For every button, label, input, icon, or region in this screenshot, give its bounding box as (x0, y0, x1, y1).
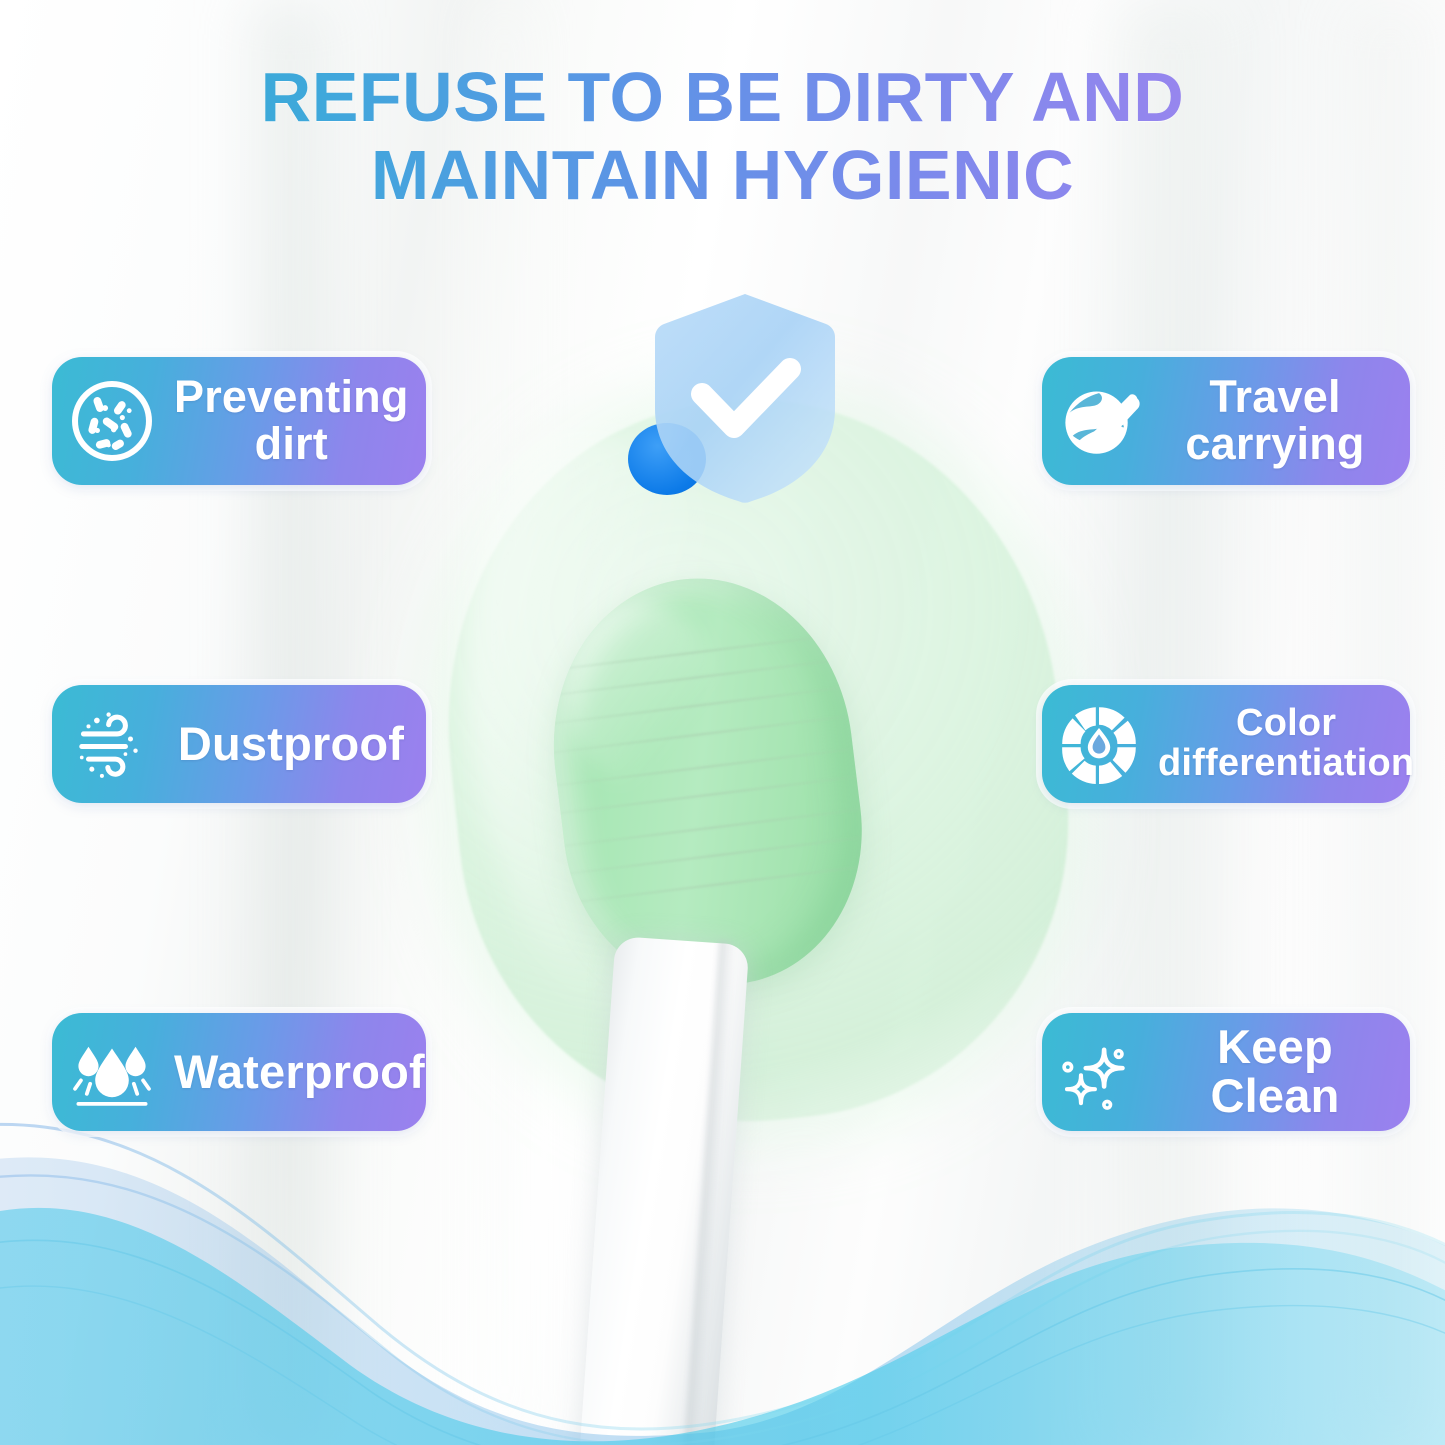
feature-badge-preventing-dirt[interactable]: Preventing dirt (52, 357, 426, 485)
feature-badge-dustproof[interactable]: Dustproof (52, 685, 426, 803)
feature-badge-label: Dustproof (174, 720, 408, 769)
water-droplets-icon (66, 1026, 158, 1118)
infographic-canvas: REFUSE TO BE DIRTY AND MAINTAIN HYGIENIC (0, 0, 1445, 1445)
globe-airplane-icon (1056, 378, 1142, 464)
shield-check-emblem (628, 290, 858, 510)
feature-badge-label: Waterproof (174, 1048, 425, 1097)
feature-badge-travel-carrying[interactable]: Travel carrying (1042, 357, 1410, 485)
feature-badge-label: Color differentiation (1158, 704, 1414, 783)
wind-dust-icon (66, 698, 158, 790)
feature-badge-color-differentiation[interactable]: Color differentiation (1042, 685, 1410, 803)
sparkles-icon (1056, 1029, 1142, 1115)
color-wheel-droplet-icon (1056, 701, 1142, 787)
feature-badge-label: Travel carrying (1158, 374, 1392, 468)
feature-badge-keep-clean[interactable]: Keep Clean (1042, 1013, 1410, 1131)
feature-badge-waterproof[interactable]: Waterproof (52, 1013, 426, 1131)
wave-decoration (0, 1115, 1445, 1445)
feature-badge-label: Keep Clean (1158, 1023, 1392, 1121)
germ-circle-icon (66, 375, 158, 467)
feature-badge-label: Preventing dirt (174, 374, 409, 468)
shield-check-icon (650, 290, 840, 505)
